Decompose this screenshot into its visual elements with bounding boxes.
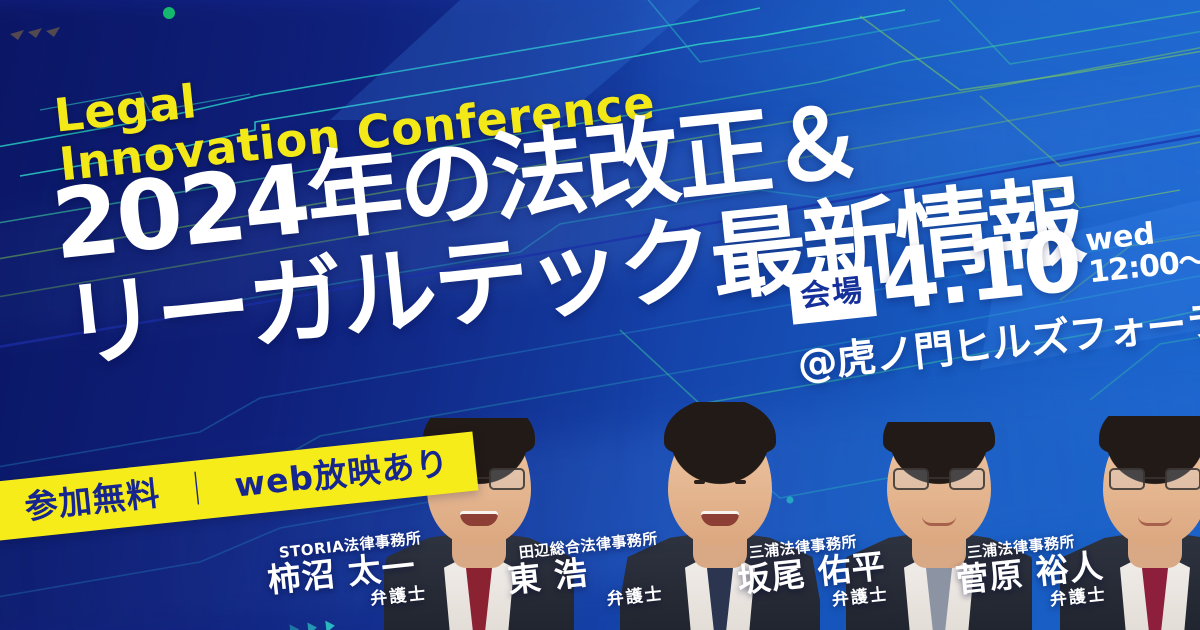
speaker-nameplate: STORIA法律事務所 柿沼 太一 弁護士	[264, 527, 428, 620]
speaker-nameplate: 田辺総合法律事務所 東 浩 弁護士	[504, 527, 665, 620]
speaker-nameplate: 三浦法律事務所 坂尾 佑平 弁護士	[734, 528, 890, 620]
speaker-nameplate: 三浦法律事務所 菅原 裕人 弁護士	[952, 528, 1108, 620]
badge-separator: ｜	[170, 467, 224, 511]
badge-web-label: web放映あり	[233, 443, 451, 504]
venue-tag-label: 会場	[788, 266, 877, 325]
triangle-decoration	[289, 620, 335, 630]
event-banner: Legal Innovation Conference 2024年の法改正＆ リ…	[0, 0, 1200, 630]
glasses-icon	[1109, 468, 1200, 490]
mouth-shape	[701, 511, 739, 526]
eye-shape	[694, 480, 705, 484]
mouth-shape	[922, 516, 956, 526]
mouth-shape	[1138, 516, 1172, 526]
date-side-info: wed 12:00〜	[1084, 214, 1200, 298]
mouth-shape	[460, 511, 498, 526]
speaker-card: 三浦法律事務所 菅原 裕人 弁護士	[960, 415, 1200, 630]
badge-free-label: 参加無料	[23, 474, 162, 527]
hair-shape	[1099, 416, 1200, 454]
